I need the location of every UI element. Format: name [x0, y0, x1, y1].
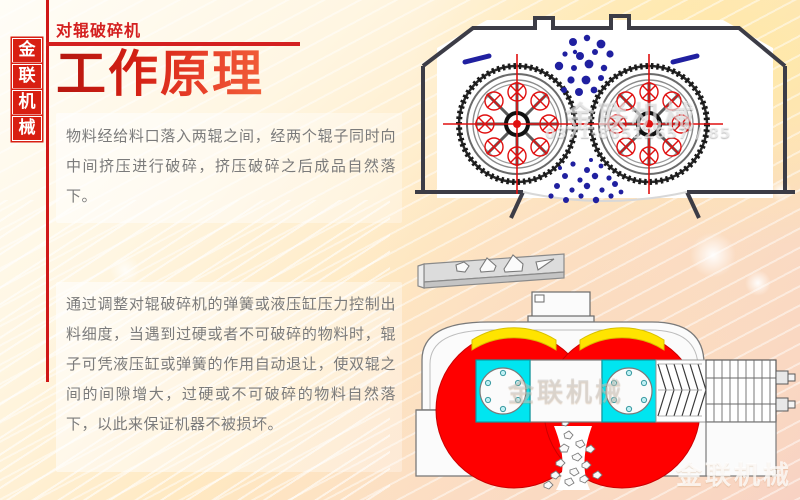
bokeh-spot	[110, 255, 140, 285]
adjustment-block	[706, 360, 795, 422]
paragraph-one: 物料经给料口落入两辊之间，经两个辊子同时向中间挤压进行破碎，挤压破碎之后成品自然…	[66, 121, 396, 211]
page-title: 工作原理	[56, 46, 264, 102]
vertical-divider	[46, 0, 49, 382]
logo-char-3: 机	[12, 90, 42, 115]
logo-char-4: 械	[12, 116, 42, 141]
poster-root: 金 联 机 械 对辊破碎机 工作原理 物料经给料口落入两辊之间，经两个辊子同时向…	[0, 0, 800, 500]
machine-inlet	[528, 292, 594, 322]
logo-char-1: 金	[12, 38, 42, 63]
feed-chute	[418, 254, 564, 288]
working-principle-diagram	[404, 238, 796, 496]
cross-section-diagram	[415, 4, 795, 226]
bearing-right	[602, 360, 656, 422]
spring-assembly	[656, 360, 706, 422]
brand-logo: 金 联 机 械	[12, 38, 46, 142]
page-kicker: 对辊破碎机	[56, 17, 141, 41]
bearing-left	[476, 360, 530, 422]
paragraph-two: 通过调整对辊破碎机的弹簧或液压缸压力控制出料细度，当遇到过硬或者不可破碎的物料时…	[66, 289, 396, 439]
logo-char-2: 联	[12, 64, 42, 89]
